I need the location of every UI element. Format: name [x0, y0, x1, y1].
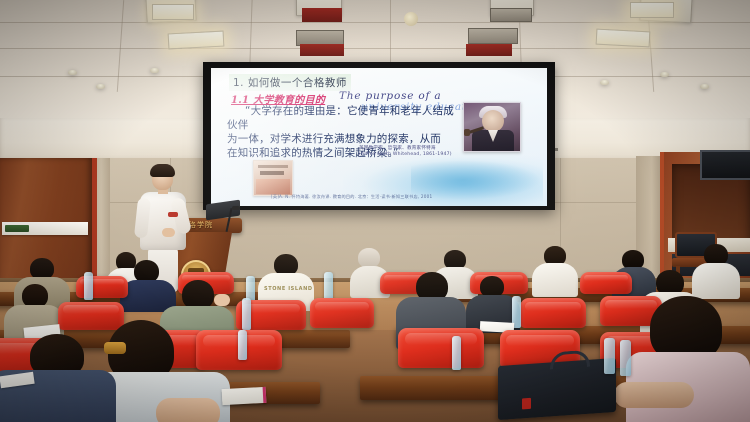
- ceiling-red-panel: [466, 44, 512, 56]
- ceiling-light: [152, 4, 194, 20]
- whitehead-portrait: [463, 102, 521, 152]
- ceiling-red-panel: [302, 8, 342, 22]
- ceiling-light: [596, 29, 651, 48]
- water-bottle[interactable]: [604, 338, 615, 374]
- audience-member: STONE ISLAND: [258, 254, 314, 306]
- ceiling-vent: [468, 28, 518, 44]
- ceiling-dome-light: [404, 12, 418, 26]
- water-bottle[interactable]: [452, 336, 461, 370]
- laptop-bag[interactable]: [498, 358, 616, 420]
- microphone-head: [232, 206, 240, 210]
- seat[interactable]: [398, 328, 484, 368]
- lecture-hall-photo: 1. 如何做一个合格教师 1.1 大学教育的目的 The purpose of …: [0, 0, 750, 422]
- ceiling-vent: [490, 8, 532, 22]
- forearm: [614, 382, 694, 408]
- book-cover-image: [253, 160, 293, 196]
- seat[interactable]: [310, 298, 374, 328]
- ceiling-light: [168, 31, 225, 50]
- notebook[interactable]: [222, 387, 267, 405]
- water-bottle[interactable]: [620, 340, 631, 376]
- downlight: [96, 84, 105, 89]
- door-sign-graphic: [5, 225, 29, 232]
- audience-member-foreground: [626, 296, 750, 422]
- downlight: [150, 68, 159, 73]
- projection-screen: 1. 如何做一个合格教师 1.1 大学教育的目的 The purpose of …: [211, 68, 547, 206]
- slide-footnote: [英]A. N. 怀特海著. 徐汝舟译. 教育的目的. 北京：生活·读书·新知三…: [271, 194, 432, 200]
- water-bottle[interactable]: [242, 298, 251, 330]
- shirt-print: STONE ISLAND: [264, 286, 313, 292]
- forearm: [156, 398, 220, 422]
- ceiling-red-panel: [300, 44, 344, 56]
- projection-screen-frame: 1. 如何做一个合格教师 1.1 大学教育的目的 The purpose of …: [203, 62, 555, 210]
- slide-citation: 英国数学家、哲学家、教育家怀特海 (Alfred North Whitehead…: [359, 146, 452, 158]
- water-bottle[interactable]: [84, 272, 93, 300]
- slide-heading: 1. 如何做一个合格教师: [229, 74, 351, 91]
- ceiling-light: [630, 2, 674, 18]
- downlight: [600, 80, 609, 85]
- downlight: [660, 72, 669, 77]
- wall-monitor: [700, 150, 750, 180]
- slide-quote-line-2: 为一体，对学术进行充满想象力的探索，从而: [227, 132, 457, 146]
- slide-citation-en: (Alfred North Whitehead, 1861-1947): [359, 152, 452, 158]
- downlight: [700, 84, 709, 89]
- audience-member: [532, 246, 578, 294]
- slide-quote-line-1: “大学存在的理由是：它使青年和老年人结成伙伴: [227, 104, 457, 132]
- seat[interactable]: [580, 272, 632, 294]
- water-bottle[interactable]: [238, 330, 247, 360]
- downlight: [68, 70, 77, 75]
- water-bottle[interactable]: [324, 272, 333, 300]
- seat[interactable]: [520, 298, 586, 328]
